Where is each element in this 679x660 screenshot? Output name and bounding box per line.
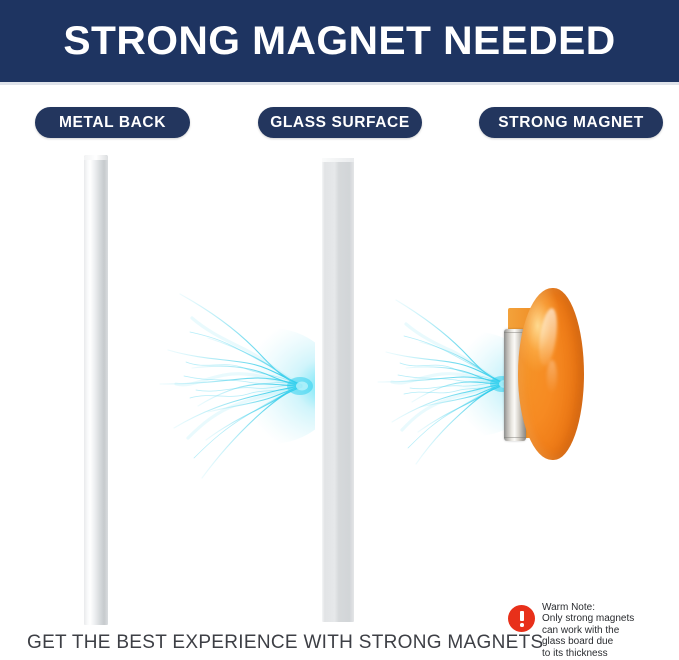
magnet-highlight-secondary [547, 360, 557, 394]
warm-note-line-1: Warm Note: [542, 602, 634, 613]
header-divider [0, 82, 679, 85]
warm-note-line-4: glass board due [542, 636, 634, 647]
metal-back-bar [84, 155, 108, 625]
warm-note-line-2: Only strong magnets [542, 613, 634, 624]
label-metal-back: METAL BACK [35, 107, 190, 138]
glass-surface-bar [322, 158, 354, 622]
page-title: STRONG MAGNET NEEDED [0, 0, 679, 82]
warm-note-line-5: to its thickness [542, 648, 634, 659]
warm-note-text: Warm Note: Only strong magnets can work … [542, 602, 634, 659]
product-infographic: STRONG MAGNET NEEDED METAL BACK GLASS SU… [0, 0, 679, 660]
magnetic-field-metal-icon [150, 288, 315, 483]
exclamation-circle-icon [508, 605, 535, 632]
warm-note-line-3: can work with the [542, 625, 634, 636]
label-glass-surface: GLASS SURFACE [258, 107, 422, 138]
magnet-illustration [500, 288, 595, 463]
magnetic-field-glass-icon [372, 298, 514, 466]
warm-note: Warm Note: Only strong magnets can work … [508, 602, 678, 659]
label-strong-magnet: STRONG MAGNET [479, 107, 663, 138]
bottom-caption: GET THE BEST EXPERIENCE WITH STRONG MAGN… [27, 632, 543, 654]
